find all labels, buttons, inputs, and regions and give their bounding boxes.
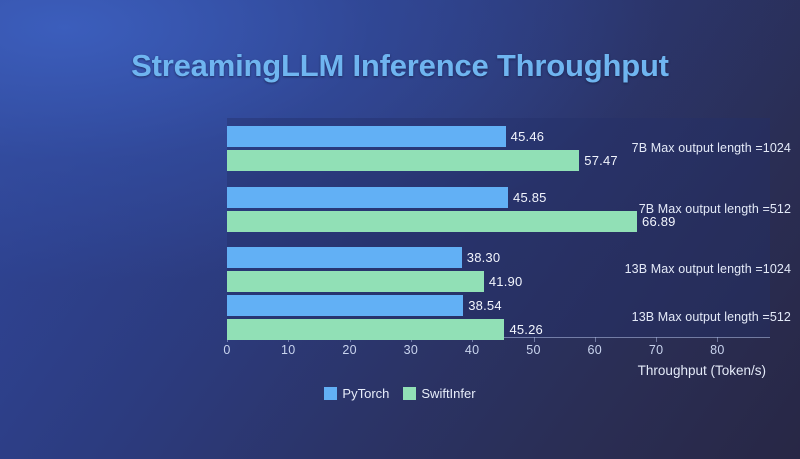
bar-pytorch-1[interactable] xyxy=(227,187,508,208)
x-axis-tick-mark xyxy=(656,337,657,342)
x-axis-tick-label: 0 xyxy=(207,343,247,357)
bar-pytorch-0[interactable] xyxy=(227,126,506,147)
x-axis-tick-label: 60 xyxy=(575,343,615,357)
category-label-1: 7B Max output length =512 xyxy=(576,202,791,216)
x-axis-tick-label: 20 xyxy=(330,343,370,357)
bar-swiftinfer-2[interactable] xyxy=(227,271,484,292)
legend-label: PyTorch xyxy=(342,386,389,401)
x-axis-tick-mark xyxy=(595,337,596,342)
category-label-0: 7B Max output length =1024 xyxy=(576,141,791,155)
bar-swiftinfer-3[interactable] xyxy=(227,319,504,340)
x-axis-tick-label: 10 xyxy=(268,343,308,357)
category-label-2: 13B Max output length =1024 xyxy=(576,262,791,276)
legend-item-pytorch[interactable]: PyTorch xyxy=(324,386,389,401)
bar-pytorch-3[interactable] xyxy=(227,295,463,316)
slide-canvas: StreamingLLM Inference Throughput 010203… xyxy=(0,0,800,459)
bar-pytorch-2[interactable] xyxy=(227,247,462,268)
x-axis-tick-label: 30 xyxy=(391,343,431,357)
bar-value-label: 41.90 xyxy=(489,271,523,292)
x-axis-tick-mark xyxy=(717,337,718,342)
x-axis-tick-label: 50 xyxy=(514,343,554,357)
chart-legend: PyTorchSwiftInfer xyxy=(0,386,800,401)
bar-value-label: 45.26 xyxy=(509,319,543,340)
x-axis-title: Throughput (Token/s) xyxy=(400,363,766,378)
bar-value-label: 45.46 xyxy=(511,126,545,147)
bar-value-label: 38.54 xyxy=(468,295,502,316)
bar-value-label: 45.85 xyxy=(513,187,547,208)
legend-label: SwiftInfer xyxy=(421,386,475,401)
x-axis-tick-label: 40 xyxy=(452,343,492,357)
bar-swiftinfer-0[interactable] xyxy=(227,150,579,171)
legend-swatch-icon xyxy=(324,387,337,400)
x-axis-tick-label: 70 xyxy=(636,343,676,357)
legend-swatch-icon xyxy=(403,387,416,400)
bar-value-label: 38.30 xyxy=(467,247,501,268)
legend-item-swiftinfer[interactable]: SwiftInfer xyxy=(403,386,475,401)
x-axis-tick-label: 80 xyxy=(697,343,737,357)
category-label-3: 13B Max output length =512 xyxy=(576,310,791,324)
